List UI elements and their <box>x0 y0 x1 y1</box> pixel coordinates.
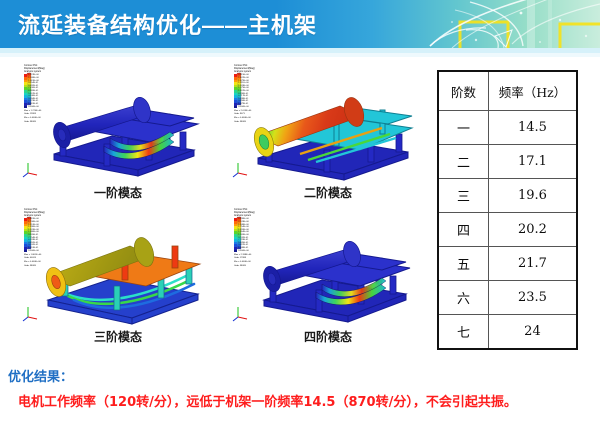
table-row: 六 23.5 <box>438 281 577 315</box>
legend-footer-min: Min = 0.000E+00 <box>24 117 45 120</box>
table-header-freq: 频率（Hz） <box>488 71 577 111</box>
cell-order: 五 <box>438 247 488 281</box>
cell-freq: 14.5 <box>488 111 577 145</box>
legend-level: 0.000E+00 <box>28 250 39 252</box>
legend-footer-maxgrid: Grids 40026 <box>24 257 45 260</box>
axis-triad-icon <box>232 302 252 322</box>
fea-plot-mode-3 <box>18 206 218 328</box>
table-row: 四 20.2 <box>438 213 577 247</box>
legend-levels: 2.015E+00 1.847E+00 1.679E+00 1.511E+00 … <box>234 74 255 108</box>
legend-footer-max: Max = 1.274E+00 <box>24 110 45 113</box>
legend-footer-mingrid: Grids 38085 <box>234 121 255 124</box>
mode-panel-3: Contour Plot Displacement(Mag) Analysis … <box>18 206 218 328</box>
table-header-order: 阶数 <box>438 71 488 111</box>
legend-footer-mingrid: Grids 38085 <box>24 121 45 124</box>
legend-footer-maxgrid: Grids 17988 <box>234 257 255 260</box>
conclusion-text: 电机工作频率（120转/分），远低于机架一阶频率14.5（870转/分），不会引… <box>18 391 517 410</box>
contour-legend-4: Contour Plot Displacement(Mag) Analysis … <box>234 209 255 268</box>
mode-panel-2: Contour Plot Displacement(Mag) Analysis … <box>228 62 428 184</box>
table-row: 五 21.7 <box>438 247 577 281</box>
slide-header: 流延装备结构优化——主机架 <box>0 0 600 48</box>
conclusion-label: 优化结果： <box>8 366 73 385</box>
mode-caption-2: 二阶模态 <box>228 184 428 201</box>
header-underline-soft <box>0 53 600 57</box>
fea-plot-mode-4 <box>228 206 428 328</box>
mode-panel-1: Contour Plot Displacement(Mag) Analysis … <box>18 62 218 184</box>
page-title: 流延装备结构优化——主机架 <box>18 8 317 40</box>
legend-footer-min: Min = 0.000E+00 <box>24 261 45 264</box>
table-row: 七 24 <box>438 315 577 350</box>
cell-freq: 23.5 <box>488 281 577 315</box>
table-row: 二 17.1 <box>438 145 577 179</box>
cell-freq: 19.6 <box>488 179 577 213</box>
table-row: 三 19.6 <box>438 179 577 213</box>
fea-plot-mode-2 <box>228 62 428 184</box>
legend-level: 0.000E+00 <box>28 106 39 108</box>
cell-order: 四 <box>438 213 488 247</box>
table-header-row: 阶数 频率（Hz） <box>438 71 577 111</box>
legend-levels: 1.274E+00 1.168E+00 1.061E+00 9.554E-01 … <box>24 74 45 108</box>
slide-root: 流延装备结构优化——主机架 <box>0 0 600 421</box>
contour-legend-3: Contour Plot Displacement(Mag) Analysis … <box>24 209 45 268</box>
mode-caption-3: 三阶模态 <box>18 328 218 345</box>
cell-freq: 17.1 <box>488 145 577 179</box>
mode-caption-1: 一阶模态 <box>18 184 218 201</box>
legend-levels: 2.338E+00 2.143E+00 1.948E+00 1.754E+00 … <box>234 218 255 252</box>
cell-order: 六 <box>438 281 488 315</box>
cell-order: 三 <box>438 179 488 213</box>
legend-system: Analysis system <box>24 71 45 74</box>
legend-system: Analysis system <box>234 215 255 218</box>
legend-footer-min: Min = 0.000E+00 <box>234 261 255 264</box>
legend-footer-max: Max = 2.015E+00 <box>234 110 255 113</box>
cell-order: 二 <box>438 145 488 179</box>
legend-footer-max: Max = 2.338E+00 <box>234 254 255 257</box>
frequency-table: 阶数 频率（Hz） 一 14.5 二 17.1 三 19.6 四 20.2 五 … <box>437 70 578 350</box>
fea-plot-mode-1 <box>18 62 218 184</box>
legend-footer-mingrid: Grids 38085 <box>24 265 45 268</box>
contour-legend-1: Contour Plot Displacement(Mag) Analysis … <box>24 65 45 124</box>
legend-footer-maxgrid: Grids 12883 <box>24 113 45 116</box>
cell-order: 一 <box>438 111 488 145</box>
cell-order: 七 <box>438 315 488 350</box>
legend-system: Analysis system <box>234 71 255 74</box>
axis-triad-icon <box>232 158 252 178</box>
cell-freq: 21.7 <box>488 247 577 281</box>
legend-levels: 1.861E+00 1.706E+00 1.551E+00 1.396E+00 … <box>24 218 45 252</box>
mode-panel-4: Contour Plot Displacement(Mag) Analysis … <box>228 206 428 328</box>
legend-level: 0.000E+00 <box>238 250 249 252</box>
axis-triad-icon <box>22 158 42 178</box>
legend-footer-min: Min = 0.000E+00 <box>234 117 255 120</box>
contour-legend-2: Contour Plot Displacement(Mag) Analysis … <box>234 65 255 124</box>
mode-caption-4: 四阶模态 <box>228 328 428 345</box>
legend-footer-maxgrid: Grids 9073 <box>234 113 255 116</box>
legend-footer-max: Max = 1.861E+00 <box>24 254 45 257</box>
table-row: 一 14.5 <box>438 111 577 145</box>
legend-system: Analysis system <box>24 215 45 218</box>
axis-triad-icon <box>22 302 42 322</box>
legend-footer-mingrid: Grids 38085 <box>234 265 255 268</box>
cell-freq: 24 <box>488 315 577 350</box>
cell-freq: 20.2 <box>488 213 577 247</box>
legend-level: 0.000E+00 <box>238 106 249 108</box>
